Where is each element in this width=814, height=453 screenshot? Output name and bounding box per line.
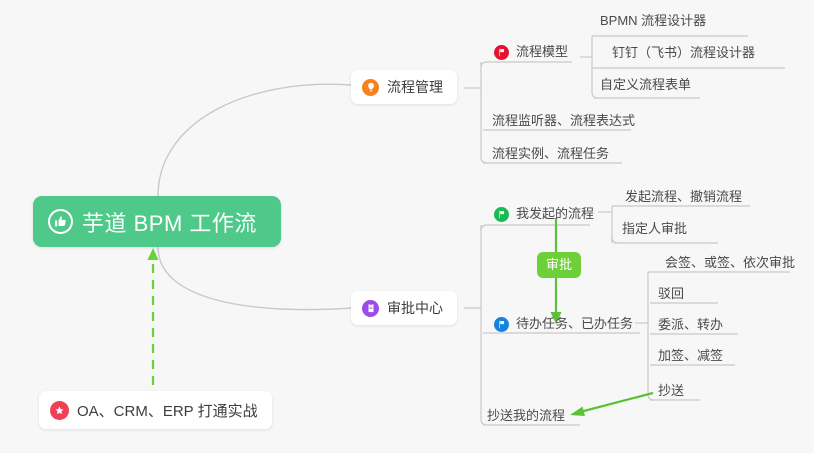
- leaf-delegate-transfer[interactable]: 委派、转办: [658, 316, 723, 334]
- leaf-countersign-orsign-sequential[interactable]: 会签、或签、依次审批: [665, 254, 795, 272]
- node-approval-center-label: 审批中心: [387, 298, 443, 318]
- leaf-start-cancel-process[interactable]: 发起流程、撤销流程: [625, 188, 742, 206]
- approval-badge: 审批: [537, 252, 581, 278]
- leaf-bpmn-designer[interactable]: BPMN 流程设计器: [600, 12, 706, 30]
- leaf-dingtalk-feishu-designer[interactable]: 钉钉（飞书）流程设计器: [612, 44, 755, 62]
- root-node[interactable]: 芋道 BPM 工作流: [33, 196, 281, 247]
- leaf-todo-done-tasks[interactable]: 待办任务、已办任务: [494, 315, 633, 333]
- node-oa-crm-erp[interactable]: OA、CRM、ERP 打通实战: [39, 391, 272, 429]
- root-label: 芋道 BPM 工作流: [82, 206, 257, 238]
- leaf-custom-process-form[interactable]: 自定义流程表单: [600, 76, 691, 94]
- flag-blue-icon: [494, 317, 509, 332]
- leaf-my-initiated-process-label: 我发起的流程: [516, 205, 594, 223]
- leaf-process-instance-task[interactable]: 流程实例、流程任务: [492, 145, 609, 163]
- flag-green-icon: [494, 207, 509, 222]
- leaf-assignee-approval[interactable]: 指定人审批: [622, 220, 687, 238]
- clipboard-icon: [362, 300, 379, 317]
- leaf-my-initiated-process[interactable]: 我发起的流程: [494, 205, 594, 223]
- leaf-process-model[interactable]: 流程模型: [494, 43, 568, 61]
- lightbulb-icon: [362, 79, 379, 96]
- leaf-add-remove-sign[interactable]: 加签、减签: [658, 347, 723, 365]
- node-process-management[interactable]: 流程管理: [351, 70, 457, 104]
- star-icon: [50, 401, 69, 420]
- node-approval-center[interactable]: 审批中心: [351, 291, 457, 325]
- leaf-reject[interactable]: 驳回: [658, 285, 684, 303]
- mindmap-canvas: 芋道 BPM 工作流 流程管理: [0, 0, 814, 453]
- leaf-process-model-label: 流程模型: [516, 43, 568, 61]
- leaf-todo-done-tasks-label: 待办任务、已办任务: [516, 315, 633, 333]
- leaf-cc-to-me-process[interactable]: 抄送我的流程: [487, 407, 565, 425]
- node-oa-crm-erp-label: OA、CRM、ERP 打通实战: [77, 400, 258, 421]
- leaf-carbon-copy[interactable]: 抄送: [658, 382, 684, 400]
- leaf-process-listener-expression[interactable]: 流程监听器、流程表达式: [492, 112, 635, 130]
- flag-red-icon: [494, 45, 509, 60]
- thumbs-up-icon: [48, 209, 73, 234]
- node-process-management-label: 流程管理: [387, 77, 443, 97]
